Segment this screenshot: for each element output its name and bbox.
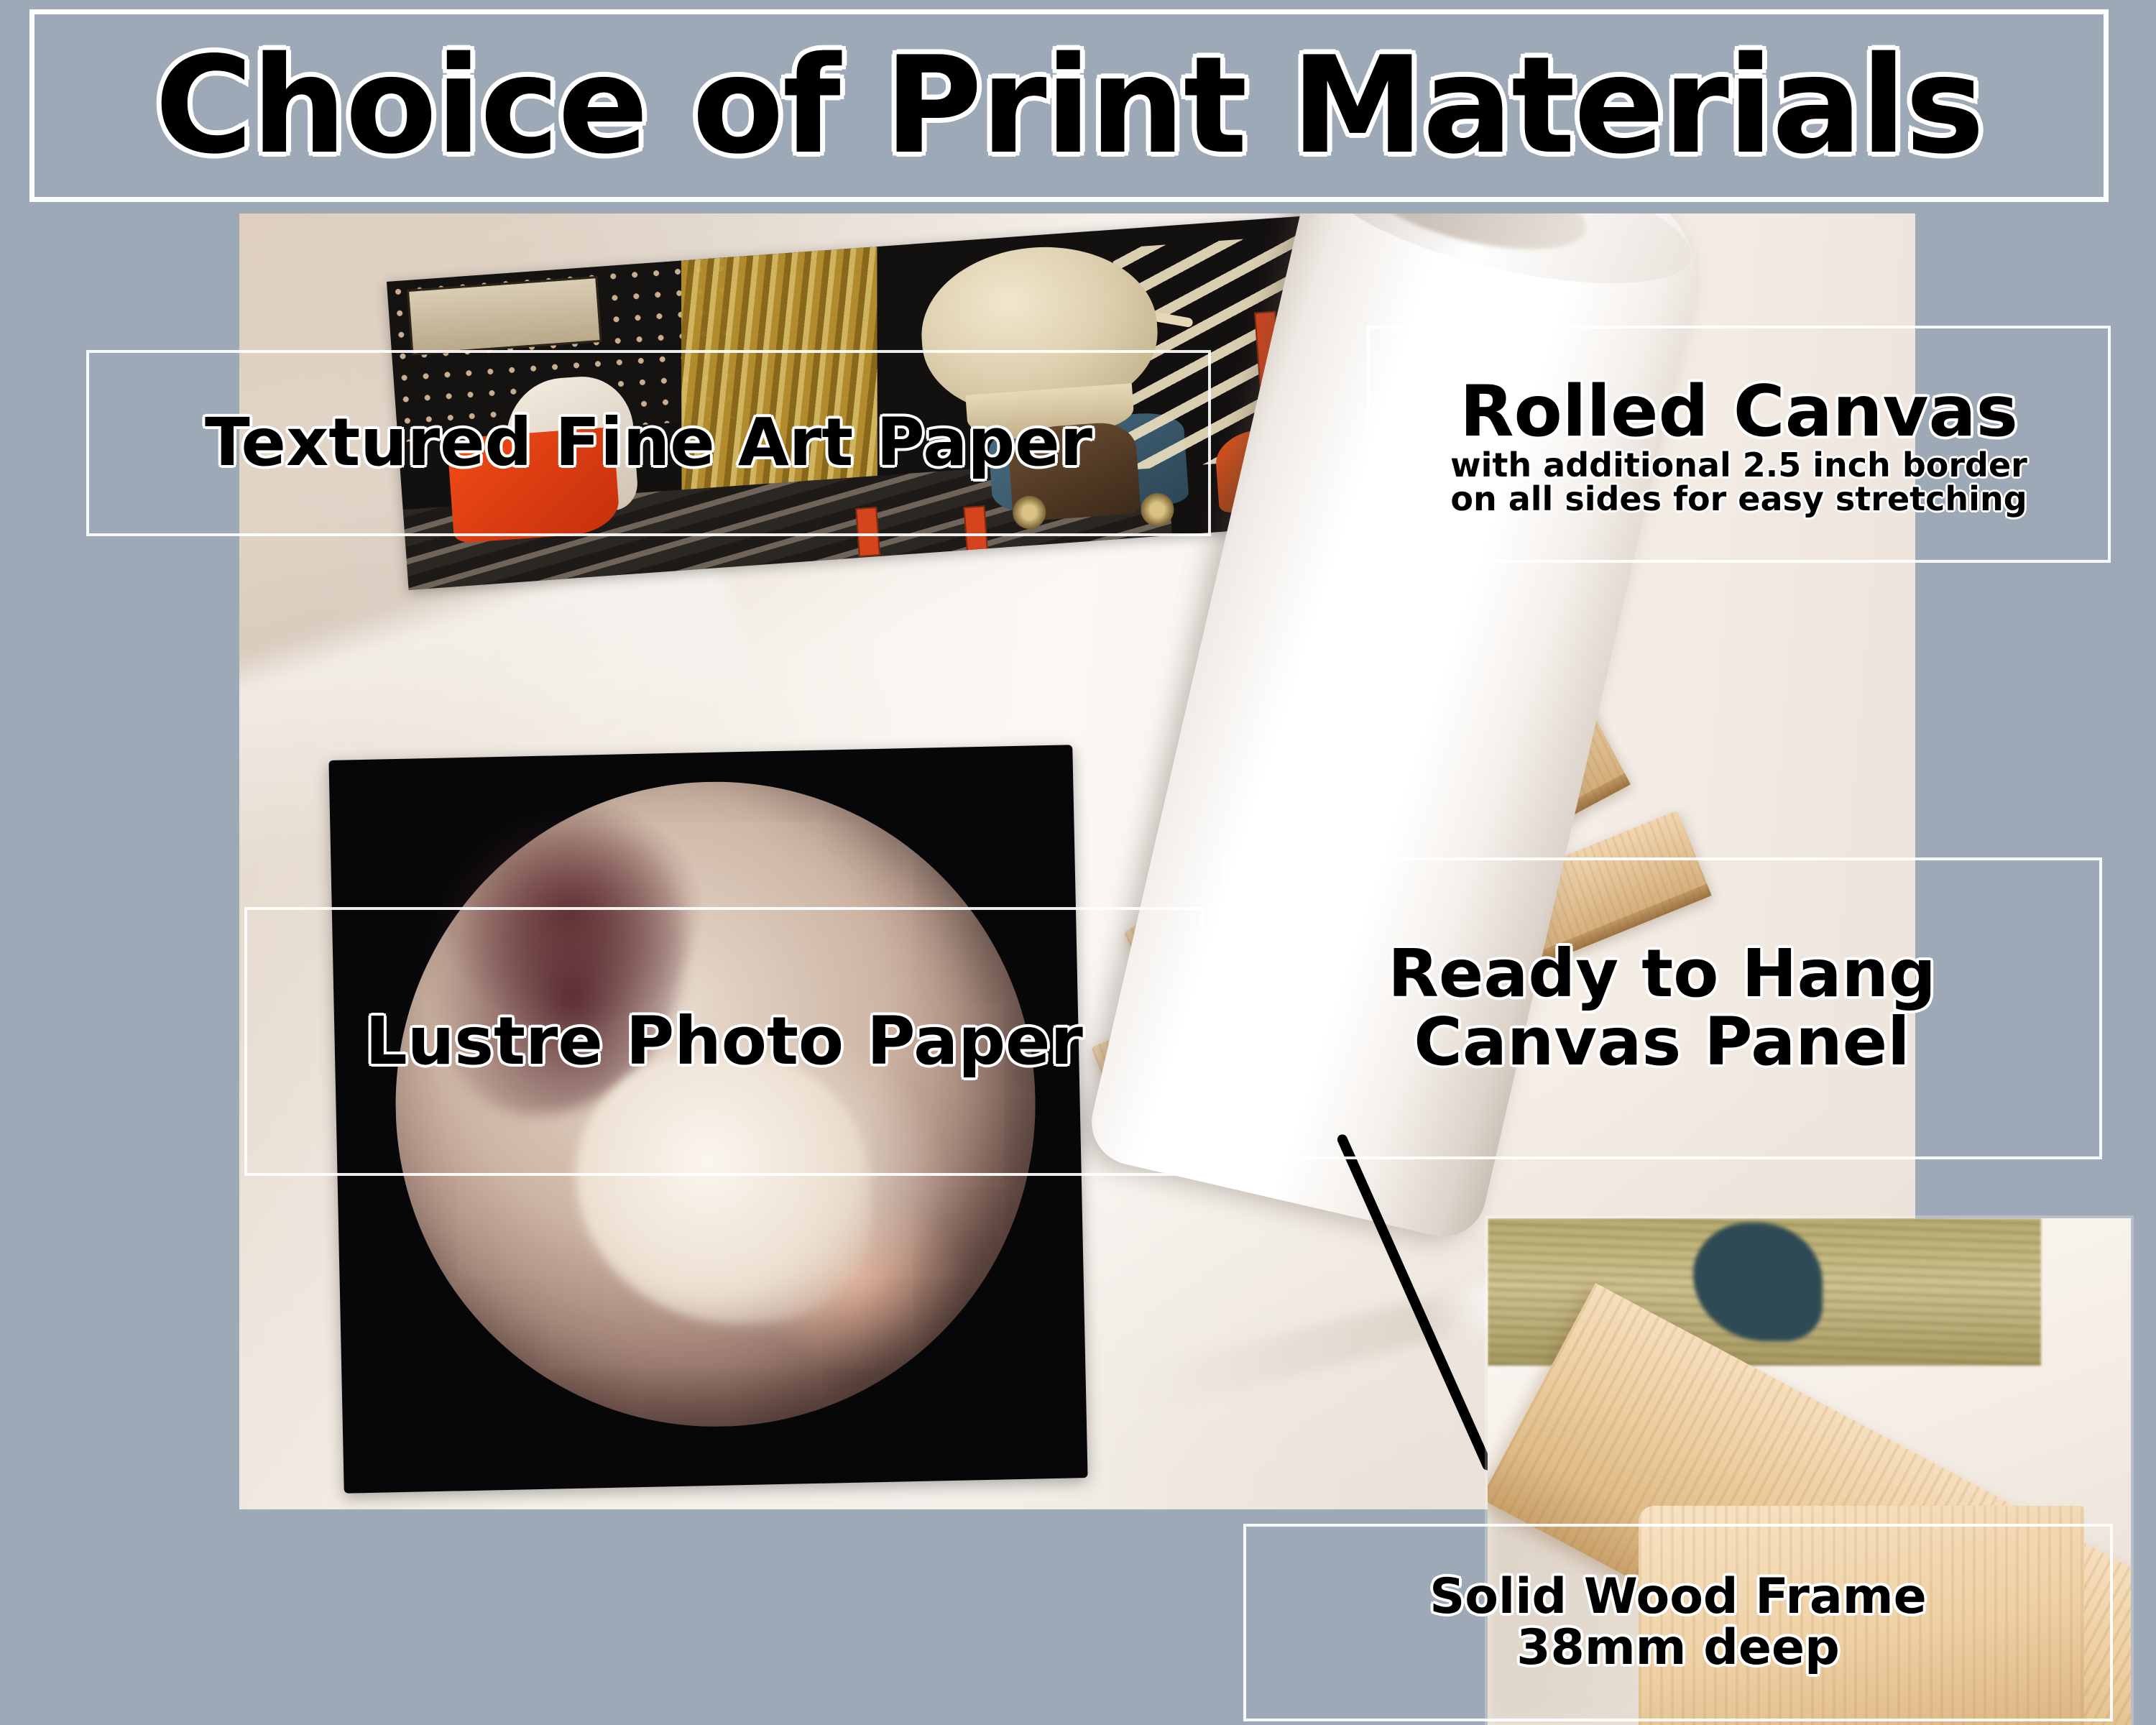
callout-rolled-canvas: Rolled Canvas with additional 2.5 inch b… xyxy=(1367,326,2111,563)
callout-ready-to-hang-canvas-panel: Ready to Hang Canvas Panel xyxy=(1222,857,2102,1159)
print-cartouche-icon xyxy=(407,276,602,356)
page-title: Choice of Print Materials xyxy=(155,39,1983,172)
callout-label-line-2: Canvas Panel xyxy=(1414,1008,1909,1077)
callout-subtitle-line-1: with additional 2.5 inch border xyxy=(1450,448,2027,482)
callout-label-line-1: Ready to Hang xyxy=(1388,940,1936,1008)
page-title-box: Choice of Print Materials xyxy=(29,9,2109,202)
infographic-root: Choice of Print Materials xyxy=(0,0,2156,1725)
callout-label-line-2: 38mm deep xyxy=(1516,1623,1840,1673)
callout-label: Lustre Photo Paper xyxy=(365,1008,1083,1076)
callout-solid-wood-frame: Solid Wood Frame 38mm deep xyxy=(1243,1524,2113,1721)
callout-textured-fine-art-paper: Textured Fine Art Paper xyxy=(86,350,1211,536)
callout-label-line-1: Solid Wood Frame xyxy=(1429,1572,1927,1622)
callout-label: Textured Fine Art Paper xyxy=(205,409,1092,477)
callout-subtitle-line-2: on all sides for easy stretching xyxy=(1450,482,2027,516)
callout-label: Rolled Canvas xyxy=(1460,376,2018,448)
callout-lustre-photo-paper: Lustre Photo Paper xyxy=(244,907,1204,1176)
